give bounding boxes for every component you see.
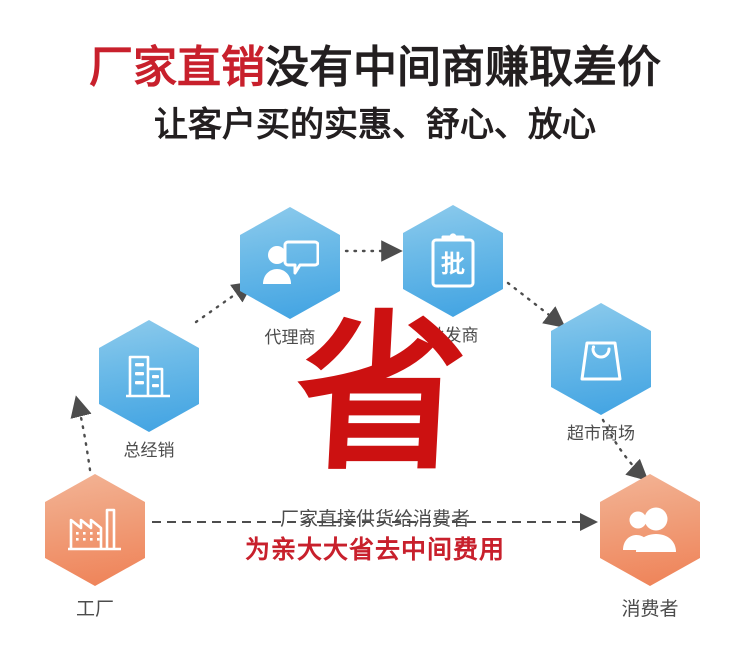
node-label-supermarket: 超市商场 [567, 419, 635, 444]
shopping-bag-icon [551, 303, 651, 415]
node-label-general-distributor: 总经销 [124, 436, 175, 461]
savings-note: 为亲大大省去中间费用 [0, 530, 750, 566]
node-label-consumer: 消费者 [621, 594, 678, 621]
hexagon-shape-general-distributor [99, 320, 199, 432]
svg-text:批: 批 [441, 250, 465, 278]
node-label-factory: 工厂 [76, 594, 114, 621]
office-building-icon [99, 320, 199, 432]
direct-supply-note: 厂家直接供货给消费者 [0, 504, 750, 531]
connector-factory-to-distributor [77, 400, 90, 470]
node-general-distributor[interactable]: 总经销 [99, 320, 199, 432]
savings-stamp-character: 省 [292, 320, 470, 470]
hexagon-shape-supermarket [551, 303, 651, 415]
promo-banner: 厂家直销没有中间商赚取差价 让客户买的实惠、舒心、放心 [0, 0, 750, 659]
node-supermarket[interactable]: 超市商场 [551, 303, 651, 415]
